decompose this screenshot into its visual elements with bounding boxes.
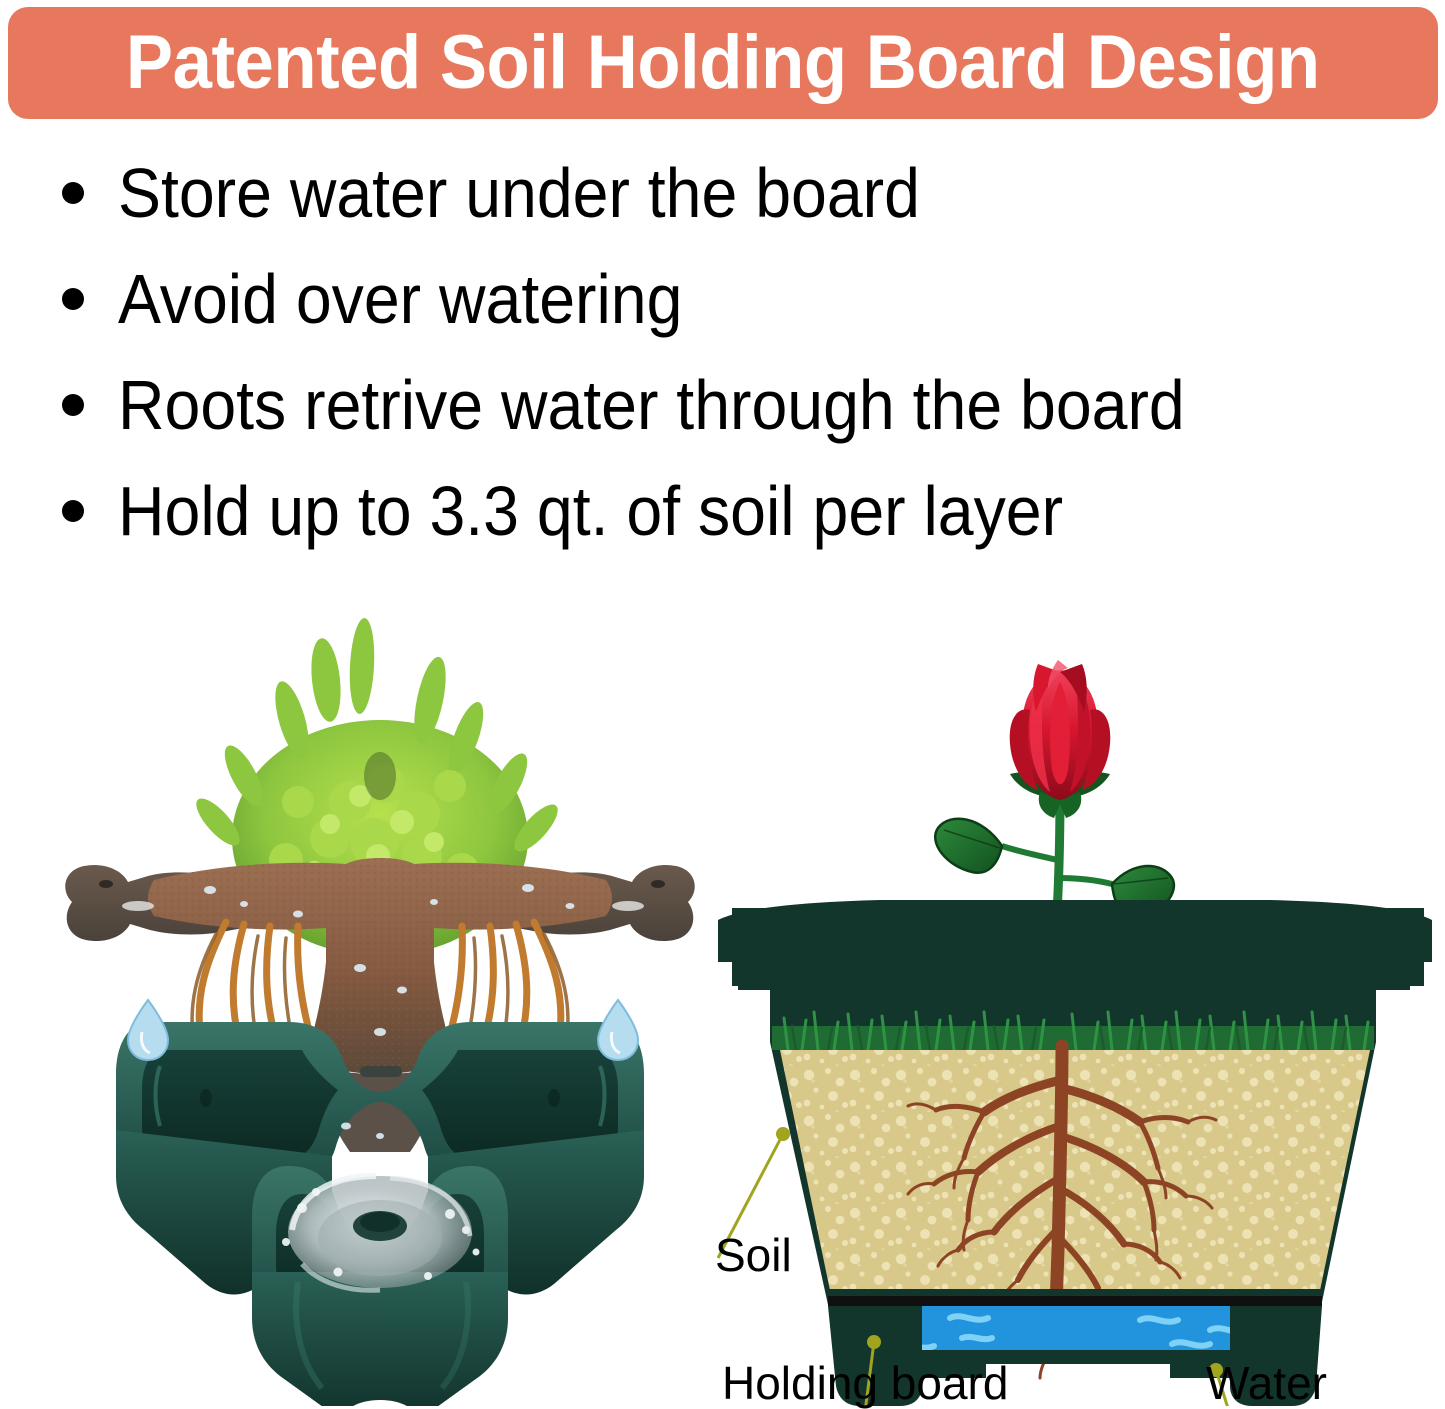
title-banner: Patented Soil Holding Board Design: [8, 7, 1438, 119]
cross-section-svg: [710, 560, 1445, 1406]
callout-label-holding-board: Holding board: [722, 1360, 1008, 1406]
bullet-text: Hold up to 3.3 qt. of soil per layer: [118, 476, 1063, 546]
stackable-planter-svg: [30, 570, 730, 1406]
list-item: Roots retrive water through the board: [0, 352, 1445, 458]
bullet-text: Roots retrive water through the board: [118, 370, 1185, 440]
figure-row: Soil Holding board Water: [0, 560, 1445, 1406]
rose-bloom: [1010, 660, 1111, 800]
bullet-point-icon: [62, 500, 84, 522]
list-item: Avoid over watering: [0, 246, 1445, 352]
callout-label-water: Water: [1206, 1360, 1327, 1406]
water-droplet-icon: [128, 1000, 168, 1060]
callout-label-soil: Soil: [715, 1232, 792, 1278]
list-item: Hold up to 3.3 qt. of soil per layer: [0, 458, 1445, 564]
holding-board: [828, 1289, 1322, 1306]
list-item: Store water under the board: [0, 140, 1445, 246]
infographic-page: Patented Soil Holding Board Design Store…: [0, 0, 1445, 1406]
bullet-text: Avoid over watering: [118, 264, 682, 334]
feature-bullet-list: Store water under the board Avoid over w…: [0, 140, 1445, 564]
bullet-point-icon: [62, 288, 84, 310]
bullet-point-icon: [62, 182, 84, 204]
water-droplet-icon: [598, 1000, 638, 1060]
planter-cross-section-diagram: [710, 560, 1445, 1406]
bullet-point-icon: [62, 394, 84, 416]
page-title: Patented Soil Holding Board Design: [126, 25, 1320, 101]
stackable-planter-photo: [30, 570, 730, 1406]
bullet-text: Store water under the board: [118, 158, 920, 228]
